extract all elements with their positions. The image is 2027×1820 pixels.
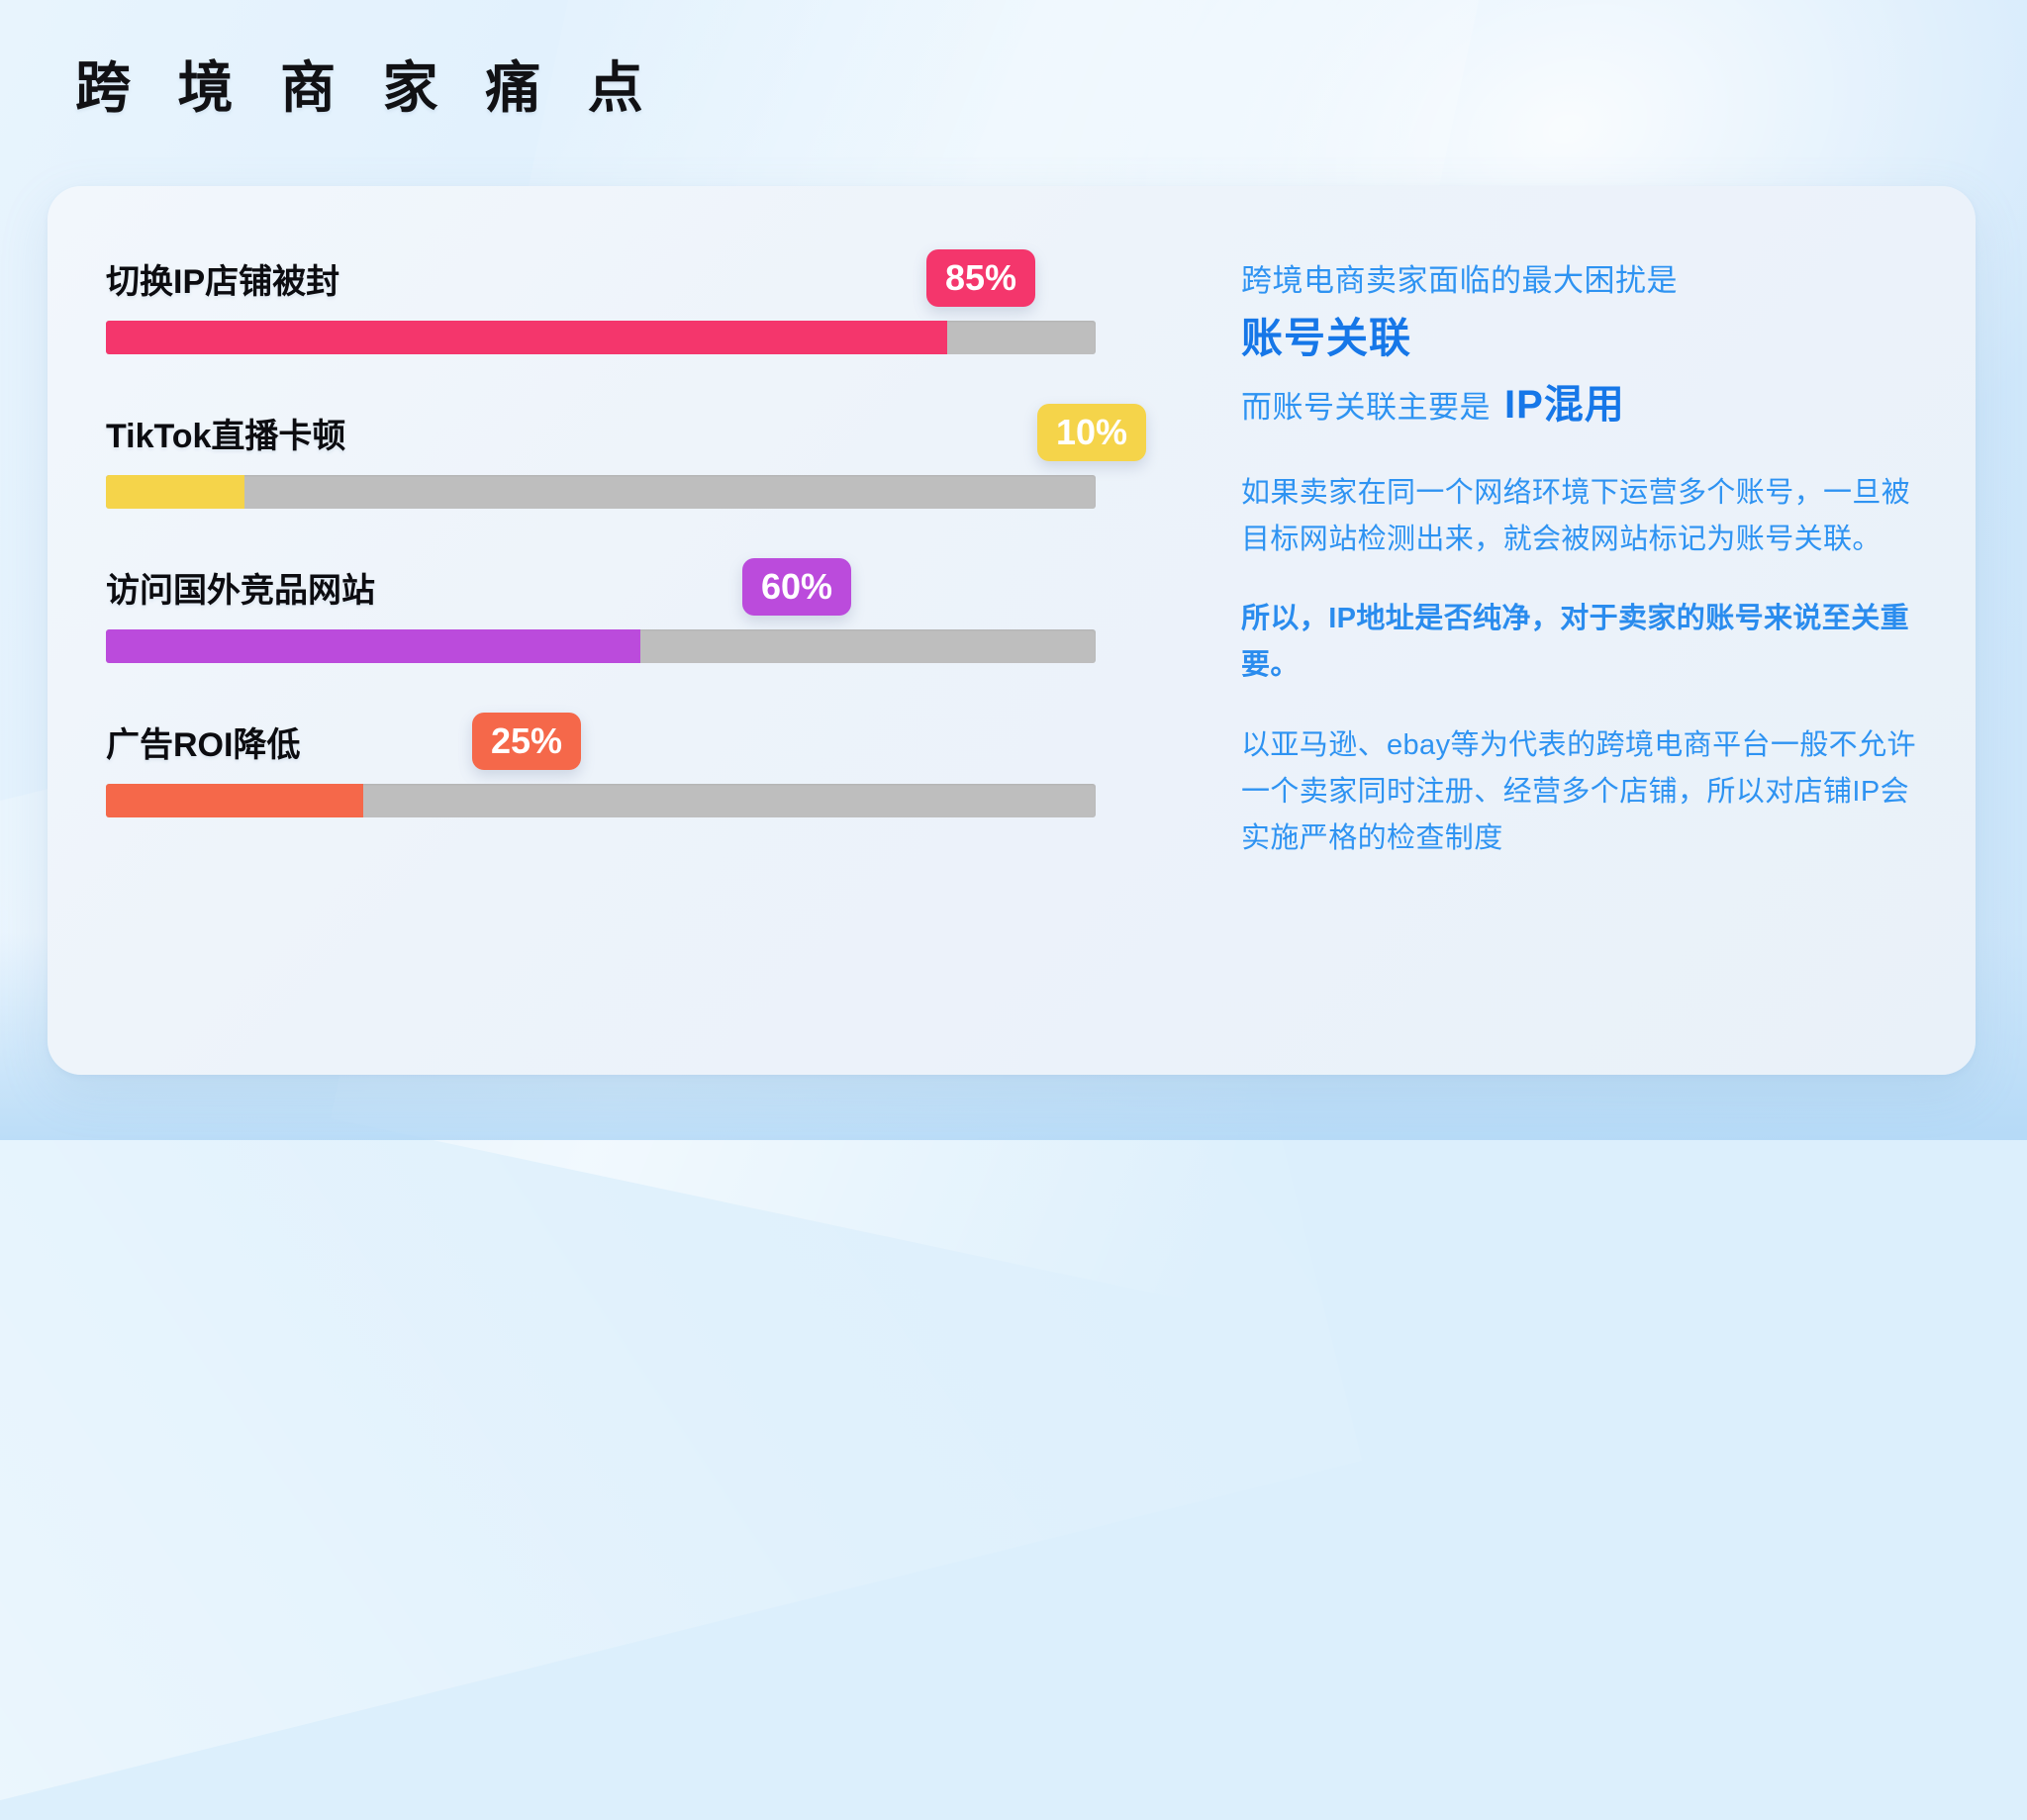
bar-label: TikTok直播卡顿 bbox=[106, 409, 345, 457]
bar-track bbox=[106, 475, 1096, 509]
bar-track bbox=[106, 321, 1096, 354]
bar-track bbox=[106, 629, 1096, 663]
bar-fill bbox=[106, 321, 947, 354]
bar-header: 广告ROI降低 25% bbox=[106, 711, 1096, 772]
bar-value-badge: 85% bbox=[926, 249, 1035, 307]
paragraph-2: 所以，IP地址是否纯净，对于卖家的账号来说至关重要。 bbox=[1241, 596, 1916, 689]
bar-chart: 切换IP店铺被封 85% TikTok直播卡顿 10% 访问国外竞品网站 60% bbox=[48, 186, 1146, 1075]
subhead-prefix: 而账号关联主要是 bbox=[1241, 385, 1491, 431]
page-title: 跨 境 商 家 痛 点 bbox=[75, 57, 659, 119]
bar-group: 广告ROI降低 25% bbox=[106, 711, 1146, 817]
bar-fill bbox=[106, 475, 244, 509]
headline-highlight: 账号关联 bbox=[1241, 313, 1916, 365]
lead-text: 跨境电商卖家面临的最大困扰是 bbox=[1241, 257, 1916, 305]
bar-value-badge: 10% bbox=[1037, 404, 1146, 461]
bar-header: 访问国外竞品网站 60% bbox=[106, 556, 1096, 618]
bar-value-badge: 25% bbox=[472, 713, 581, 770]
paragraph-3: 以亚马逊、ebay等为代表的跨境电商平台一般不允许一个卖家同时注册、经营多个店铺… bbox=[1241, 722, 1916, 862]
bar-header: TikTok直播卡顿 10% bbox=[106, 402, 1096, 463]
bar-group: 切换IP店铺被封 85% bbox=[106, 247, 1146, 354]
bar-value-badge: 60% bbox=[742, 558, 851, 616]
bar-group: TikTok直播卡顿 10% bbox=[106, 402, 1146, 509]
bar-fill bbox=[106, 784, 363, 817]
bar-fill bbox=[106, 629, 640, 663]
subhead-line: 而账号关联主要是 IP混用 bbox=[1241, 375, 1916, 434]
bar-label: 访问国外竞品网站 bbox=[106, 563, 375, 612]
bar-label: 切换IP店铺被封 bbox=[106, 254, 339, 303]
bar-label: 广告ROI降低 bbox=[106, 718, 300, 766]
subhead-highlight: IP混用 bbox=[1504, 375, 1625, 434]
description-panel: 跨境电商卖家面临的最大困扰是 账号关联 而账号关联主要是 IP混用 如果卖家在同… bbox=[1146, 186, 1976, 1075]
bar-group: 访问国外竞品网站 60% bbox=[106, 556, 1146, 663]
bar-track bbox=[106, 784, 1096, 817]
bar-header: 切换IP店铺被封 85% bbox=[106, 247, 1096, 309]
content-card: 切换IP店铺被封 85% TikTok直播卡顿 10% 访问国外竞品网站 60% bbox=[48, 186, 1976, 1075]
paragraph-1: 如果卖家在同一个网络环境下运营多个账号，一旦被目标网站检测出来，就会被网站标记为… bbox=[1241, 470, 1916, 563]
